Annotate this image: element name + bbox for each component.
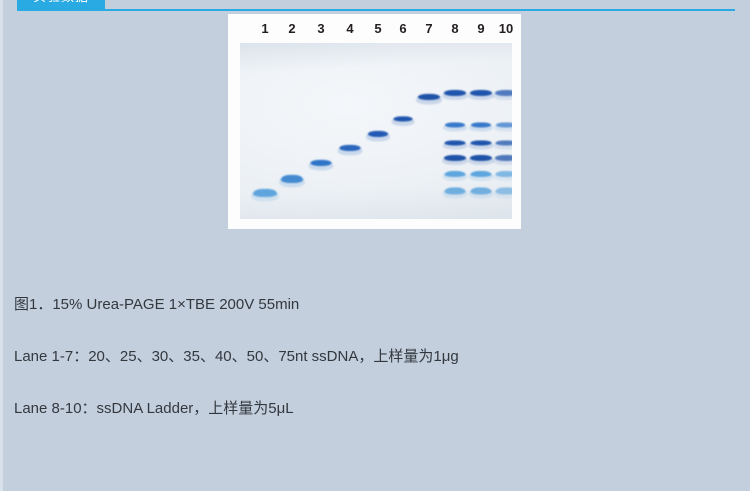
page-left-edge: [0, 0, 3, 491]
gel-band-halo-lane-2: [279, 175, 305, 188]
lane-number-6: 6: [392, 21, 414, 36]
gel-band-ladder-halo-8-1: [442, 90, 468, 100]
gel-band-halo-lane-6: [392, 116, 415, 126]
gel-photograph: [240, 43, 512, 219]
gel-band-ladder-halo-9-5: [469, 171, 494, 181]
caption-line-3: Lane 8-10：ssDNA Ladder，上样量为5μL: [14, 400, 714, 418]
gel-band-halo-lane-4: [338, 145, 363, 156]
gel-band-halo-lane-3: [309, 160, 334, 171]
lane-number-4: 4: [339, 21, 361, 36]
gel-band-halo-lane-7: [416, 94, 442, 105]
gel-band-ladder-halo-8-5: [443, 171, 468, 181]
gel-band-ladder-halo-8-4: [442, 155, 468, 165]
lane-number-10: 10: [495, 21, 517, 36]
tab-bar: 实验数据: [17, 0, 735, 11]
gel-band-ladder-halo-8-6: [443, 188, 468, 199]
tab-bar-underline: [17, 9, 735, 11]
lane-number-2: 2: [281, 21, 303, 36]
gel-band-ladder-halo-8-3: [443, 141, 468, 150]
gel-band-ladder-halo-9-4: [468, 155, 494, 165]
gel-band-ladder-halo-9-3: [469, 141, 494, 150]
gel-band-ladder-halo-9-6: [469, 188, 494, 199]
figure-card: 12345678910: [228, 14, 521, 229]
gel-band-ladder-halo-10-4: [493, 155, 512, 165]
gel-band-ladder-halo-9-1: [468, 90, 494, 100]
lane-number-7: 7: [418, 21, 440, 36]
gel-band-ladder-halo-10-3: [494, 141, 513, 150]
gel-band-ladder-halo-10-1: [493, 90, 512, 100]
lane-number-8: 8: [444, 21, 466, 36]
lane-number-3: 3: [310, 21, 332, 36]
caption-line-2: Lane 1-7：20、25、30、35、40、50、75nt ssDNA，上样…: [14, 348, 714, 366]
gel-band-ladder-halo-10-6: [494, 188, 513, 199]
lane-number-9: 9: [470, 21, 492, 36]
gel-band-halo-lane-5: [366, 131, 390, 142]
figure-captions: 图1．15% Urea-PAGE 1×TBE 200V 55min Lane 1…: [14, 296, 714, 418]
lane-number-row: 12345678910: [228, 21, 521, 39]
gel-band-ladder-halo-10-2: [494, 123, 512, 132]
lane-number-5: 5: [367, 21, 389, 36]
tab-experiment-data[interactable]: 实验数据: [17, 0, 105, 10]
gel-band-ladder-halo-10-5: [494, 171, 513, 181]
page-root: 实验数据 12345678910 图1．15% Urea-PAGE 1×TBE …: [0, 0, 750, 491]
lane-number-1: 1: [254, 21, 276, 36]
gel-band-halo-lane-1: [251, 189, 279, 202]
caption-line-1: 图1．15% Urea-PAGE 1×TBE 200V 55min: [14, 296, 714, 314]
gel-band-ladder-halo-9-2: [469, 123, 493, 132]
gel-band-ladder-halo-8-2: [443, 123, 467, 132]
